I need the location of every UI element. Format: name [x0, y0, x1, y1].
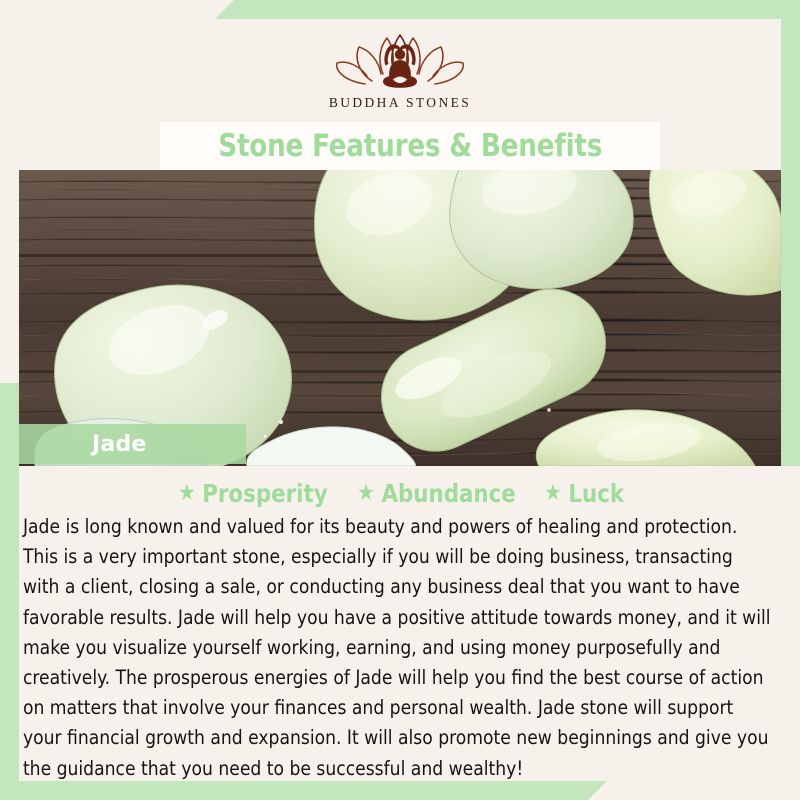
frame-accent-left [0, 383, 19, 800]
benefit-item-luck: ★ Luck [544, 479, 624, 508]
benefit-item-prosperity: ★ Prosperity [178, 479, 328, 508]
frame-accent-top-right [215, 0, 800, 19]
lotus-meditation-icon [325, 29, 475, 91]
page-title: Stone Features & Benefits [218, 128, 602, 164]
frame-accent-bottom-left [0, 781, 607, 800]
brand-header: BUDDHA STONES [0, 19, 800, 122]
stone-name-band: Jade [19, 424, 246, 464]
section-title-band: Stone Features & Benefits [160, 122, 660, 170]
star-icon: ★ [357, 482, 375, 505]
infographic-card: BUDDHA STONES Stone Features & Benefits [0, 0, 800, 800]
stone-photo [19, 170, 781, 466]
benefits-row: ★ Prosperity ★ Abundance ★ Luck [19, 478, 781, 508]
stone-name: Jade [92, 432, 147, 457]
benefit-label: Luck [569, 479, 625, 508]
benefit-item-abundance: ★ Abundance [357, 479, 516, 508]
star-icon: ★ [544, 482, 562, 505]
brand-wordmark: BUDDHA STONES [329, 95, 471, 111]
benefit-label: Prosperity [202, 479, 327, 508]
stone-description: Jade is long known and valued for its be… [19, 512, 774, 784]
benefit-label: Abundance [382, 479, 516, 508]
star-icon: ★ [178, 482, 196, 505]
